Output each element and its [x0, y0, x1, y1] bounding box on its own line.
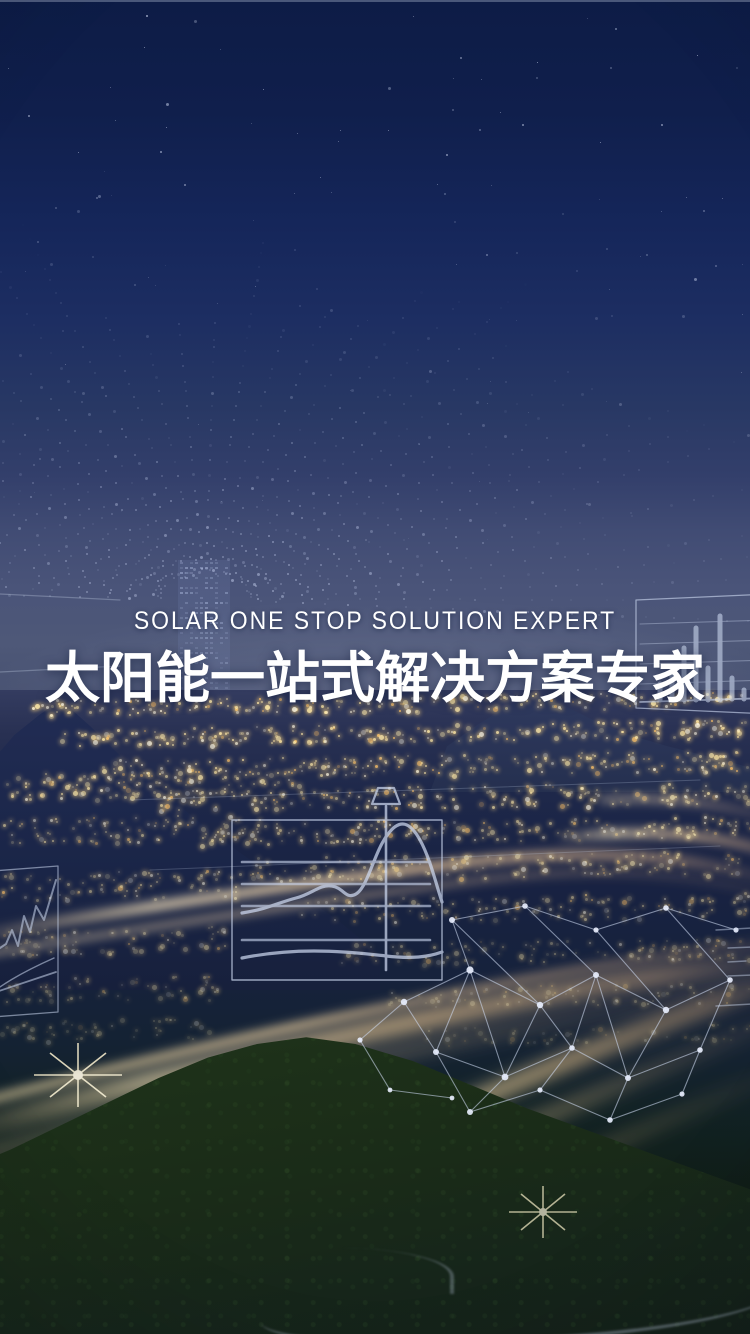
- top-edge-line: [0, 0, 750, 2]
- banner-title: 太阳能一站式解决方案专家: [0, 647, 750, 709]
- banner-text-block: SOLAR ONE STOP SOLUTION EXPERT 太阳能一站式解决方…: [0, 604, 750, 709]
- banner-subtitle: SOLAR ONE STOP SOLUTION EXPERT: [30, 604, 720, 638]
- banner-stage: SOLAR ONE STOP SOLUTION EXPERT 太阳能一站式解决方…: [0, 0, 750, 1334]
